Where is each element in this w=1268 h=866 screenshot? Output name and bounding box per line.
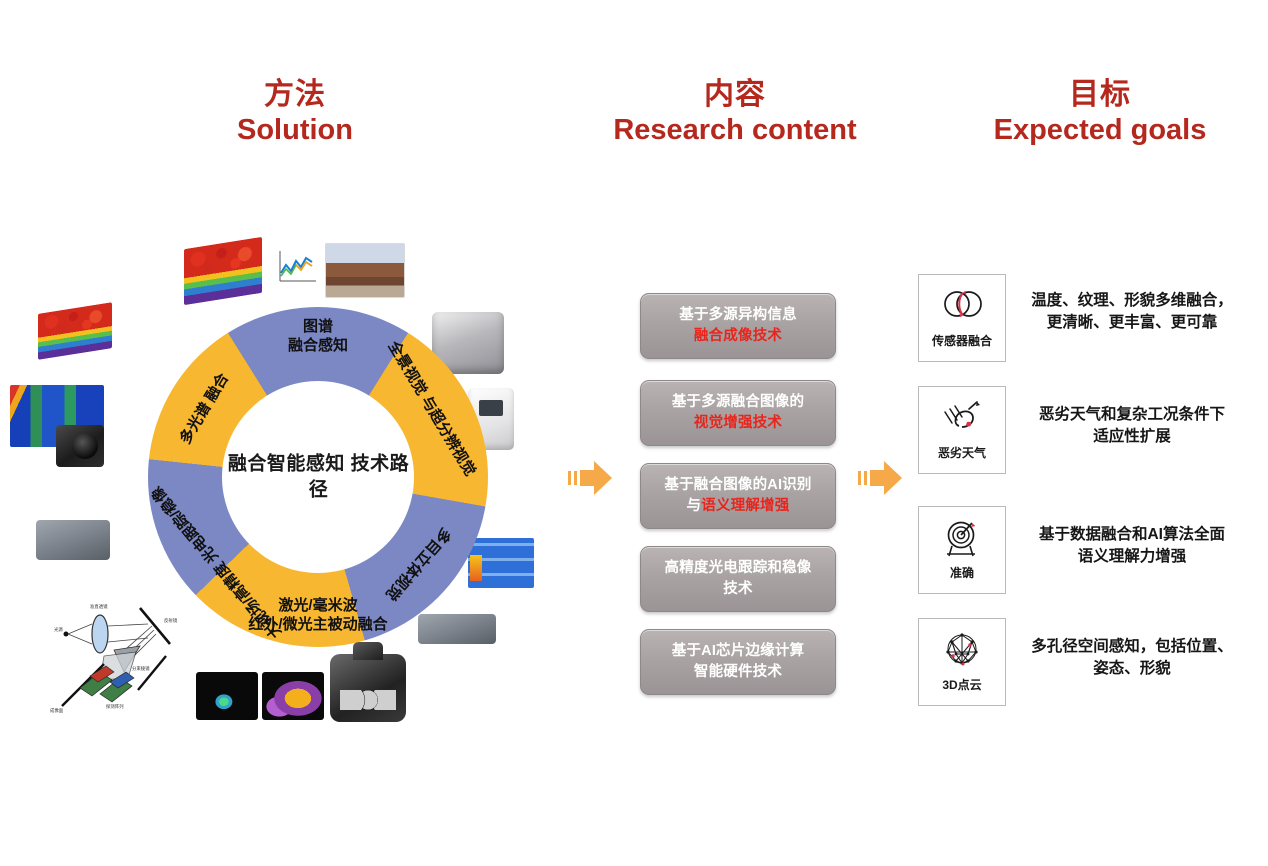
- goal-text-2-line2: 适应性扩展: [1006, 426, 1258, 448]
- point-cloud-icon: [939, 628, 985, 672]
- poster-canvas: 方法 Solution 内容 Research content 目标 Expec…: [0, 0, 1268, 866]
- goal-icon-card-bad-weather[interactable]: 恶劣天气: [918, 386, 1006, 474]
- goal-text-2-line1: 恶劣天气和复杂工况条件下: [1006, 404, 1258, 426]
- research-card-4[interactable]: 高精度光电跟踪和稳像 技术: [640, 546, 836, 612]
- eo-gimbal-turret-photo: [330, 654, 406, 722]
- ring-center-label: 融合智能感知 技术路径: [226, 451, 411, 502]
- hyperspectral-cube-image-left: [38, 302, 112, 360]
- target-accuracy-icon: [939, 516, 985, 560]
- research-card-4-line1: 高精度光电跟踪和稳像: [649, 558, 827, 579]
- venn-fusion-icon: [939, 284, 985, 328]
- goal-text-3-line1: 基于数据融合和AI算法全面: [1006, 524, 1258, 546]
- research-card-5-line1: 基于AI芯片边缘计算: [649, 641, 827, 662]
- goal-icon-card-point-cloud[interactable]: 3D点云: [918, 618, 1006, 706]
- technology-roadmap-ring: 融合智能感知 技术路径 图谱 融合感知 激光/毫米波 红外/微光主被动融合 全景…: [148, 307, 488, 647]
- spectrum-curve-svg: [272, 243, 320, 293]
- research-card-3[interactable]: 基于融合图像的AI识别 与语义理解增强: [640, 463, 836, 529]
- header-content-en: Research content: [575, 114, 895, 146]
- research-card-2[interactable]: 基于多源融合图像的 视觉增强技术: [640, 380, 836, 446]
- research-card-3-prefix: 与: [687, 498, 702, 514]
- header-solution-zh: 方法: [140, 78, 450, 112]
- goal-text-2: 恶劣天气和复杂工况条件下 适应性扩展: [1006, 404, 1258, 448]
- svg-text:光源: 光源: [54, 626, 63, 633]
- svg-text:探测阵列: 探测阵列: [106, 703, 124, 710]
- research-card-1-line1: 基于多源异构信息: [649, 305, 827, 326]
- hyperspectral-cube-image-top: [184, 237, 262, 305]
- pipeline-inspection-photo: [325, 243, 405, 298]
- arrow-right-icon-content-to-goals: [856, 458, 904, 498]
- research-card-3-line2: 语义理解增强: [701, 498, 789, 514]
- research-card-2-line1: 基于多源融合图像的: [649, 392, 827, 413]
- arrow-right-icon-solution-to-content: [566, 458, 614, 498]
- research-card-3-line1: 基于融合图像的AI识别: [649, 475, 827, 496]
- goal-icon-caption-4: 3D点云: [942, 676, 981, 693]
- research-card-3-line2-wrap: 与语义理解增强: [649, 496, 827, 517]
- goal-icon-caption-1: 传感器融合: [932, 332, 992, 349]
- lidar-scene-image: [196, 672, 258, 720]
- research-card-2-line2: 视觉增强技术: [649, 413, 827, 434]
- research-card-1[interactable]: 基于多源异构信息 融合成像技术: [640, 293, 836, 359]
- goal-text-1-line2: 更清晰、更丰富、更可靠: [1006, 312, 1258, 334]
- research-card-4-line2: 技术: [649, 579, 827, 600]
- goal-icon-caption-3: 准确: [950, 564, 974, 581]
- svg-text:成像面: 成像面: [50, 707, 64, 714]
- goal-text-4: 多孔径空间感知，包括位置、 姿态、形貌: [1006, 636, 1258, 680]
- goal-icon-caption-2: 恶劣天气: [938, 444, 986, 461]
- spectrum-curve-chart-image: [272, 243, 320, 293]
- research-card-5-line2: 智能硬件技术: [649, 662, 827, 683]
- goal-text-4-line2: 姿态、形貌: [1006, 658, 1258, 680]
- header-content-zh: 内容: [575, 78, 895, 112]
- header-solution-en: Solution: [140, 114, 450, 146]
- research-card-1-line2: 融合成像技术: [649, 326, 827, 347]
- thermal-scene-image: [262, 672, 324, 720]
- infrared-camera-photo: [56, 425, 104, 467]
- header-goals-en: Expected goals: [950, 114, 1250, 146]
- goal-text-4-line1: 多孔径空间感知，包括位置、: [1006, 636, 1258, 658]
- goal-icon-card-accuracy[interactable]: 准确: [918, 506, 1006, 594]
- svg-text:分束棱镜: 分束棱镜: [132, 665, 150, 672]
- header-goals-zh: 目标: [950, 78, 1250, 112]
- goal-text-1: 温度、纹理、形貌多维融合， 更清晰、更丰富、更可靠: [1006, 290, 1258, 334]
- goal-text-3-line2: 语义理解力增强: [1006, 546, 1258, 568]
- optical-module-photo: [36, 520, 110, 560]
- goal-icon-card-sensor-fusion[interactable]: 传感器融合: [918, 274, 1006, 362]
- rain-weather-icon: [939, 396, 985, 440]
- column-header-research-content: 内容 Research content: [575, 78, 895, 146]
- goal-text-3: 基于数据融合和AI算法全面 语义理解力增强: [1006, 524, 1258, 568]
- column-header-expected-goals: 目标 Expected goals: [950, 78, 1250, 146]
- svg-text:准直透镜: 准直透镜: [90, 603, 108, 610]
- ring-center-line1: 融合智能感知: [228, 453, 345, 474]
- column-header-solution: 方法 Solution: [140, 78, 450, 146]
- research-card-5[interactable]: 基于AI芯片边缘计算 智能硬件技术: [640, 629, 836, 695]
- goal-text-1-line1: 温度、纹理、形貌多维融合，: [1006, 290, 1258, 312]
